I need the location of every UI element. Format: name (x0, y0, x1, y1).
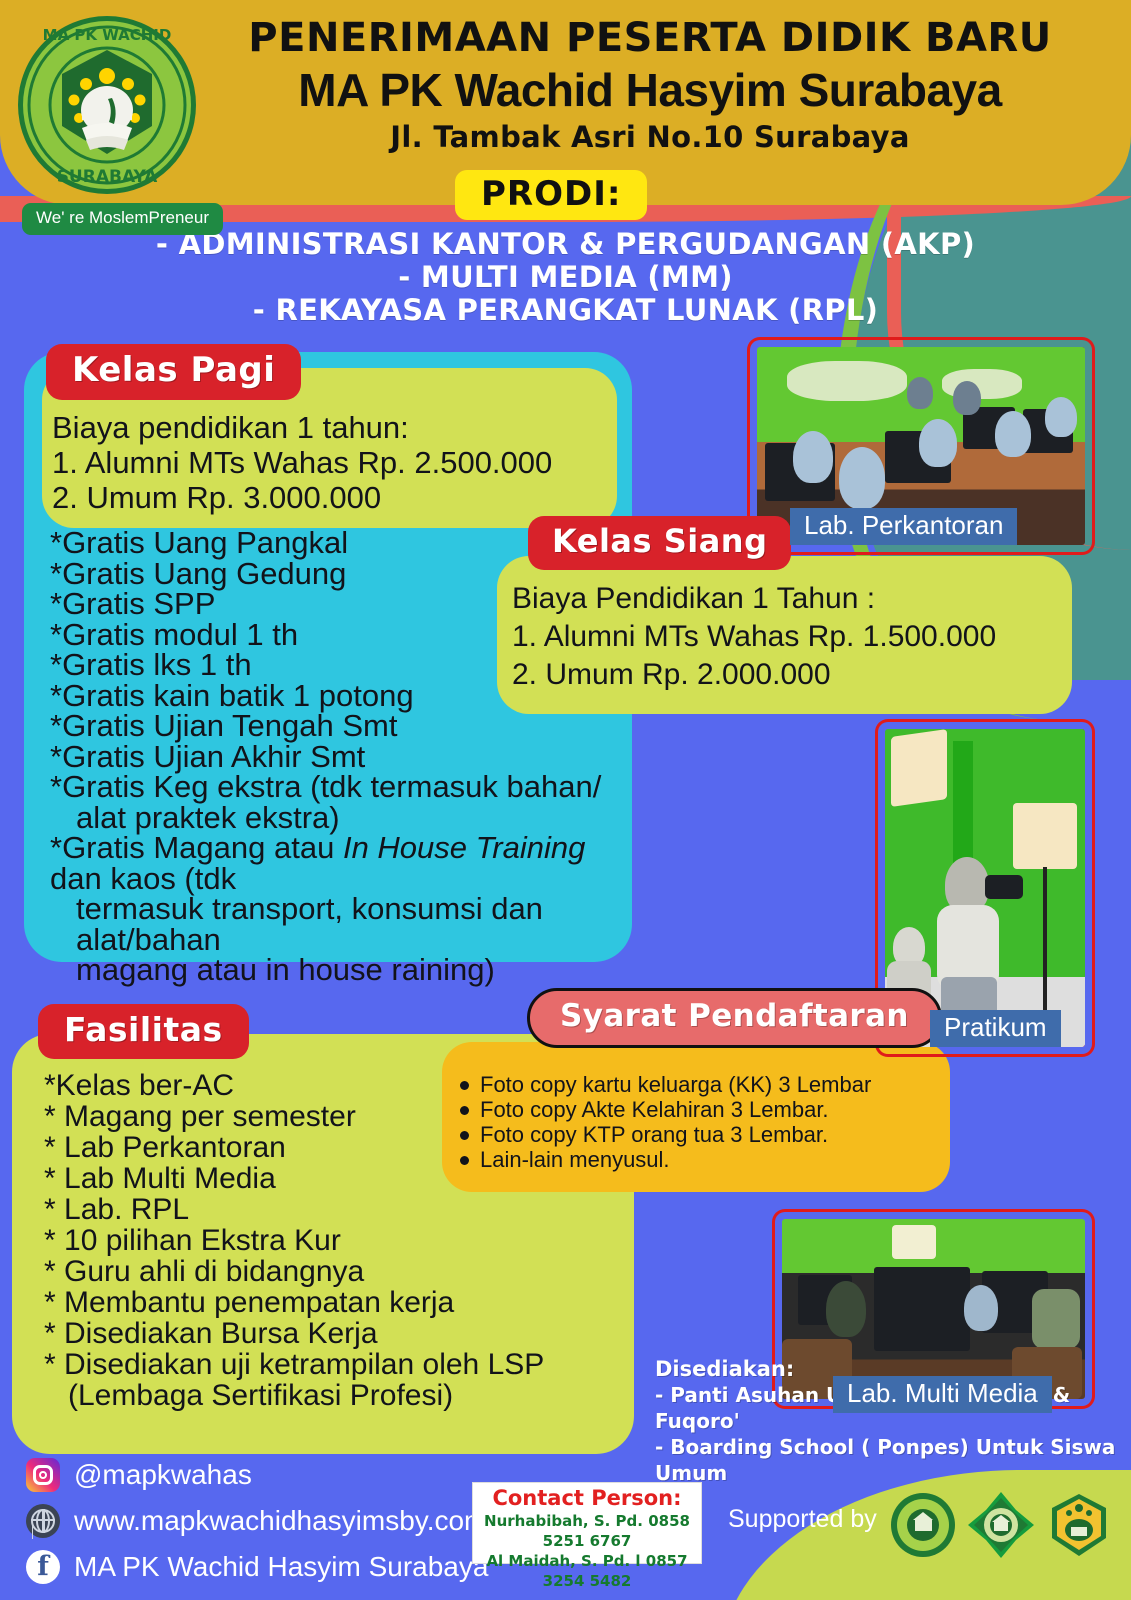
facebook-page: MA PK Wachid Hasyim Surabaya (74, 1544, 488, 1590)
syarat-item: Foto copy kartu keluarga (KK) 3 Lembar (452, 1072, 952, 1097)
globe-icon (26, 1504, 60, 1538)
photo-caption-lab-perkantoran: Lab. Perkantoran (790, 508, 1017, 545)
contact-line-1: Nurhabibah, S. Pd. 0858 5251 6767 (473, 1511, 701, 1551)
gratis-keg-line1: *Gratis Keg ekstra (tdk termasuk bahan/ (50, 772, 630, 803)
poster-root: MA PK WACHID SURABAYA PENERIMAAN PESERTA… (0, 0, 1131, 1600)
svg-text:SURABAYA: SURABAYA (57, 167, 158, 187)
instagram-icon (26, 1458, 60, 1492)
kelas-siang-cost-text: Biaya Pendidikan 1 Tahun : 1. Alumni MTs… (512, 580, 1072, 694)
prodi-item-rpl: - REKAYASA PERANGKAT LUNAK (RPL) (0, 294, 1131, 327)
kelas-pagi-cost-2: 2. Umum Rp. 3.000.000 (52, 480, 612, 515)
social-row-website[interactable]: www.mapkwachidhasyimsby.com (26, 1498, 488, 1544)
syarat-item: Lain-lain menyusul. (452, 1147, 952, 1172)
kelas-siang-cost-2: 2. Umum Rp. 2.000.000 (512, 656, 1072, 694)
prodi-label-badge: PRODI: (455, 170, 647, 220)
supporter-logo-panti-asuhan-icon (890, 1492, 956, 1558)
kelas-siang-badge: Kelas Siang (528, 516, 791, 570)
fasilitas-item-sub: (Lembaga Sertifikasi Profesi) (44, 1380, 644, 1411)
social-footer: @mapkwahas www.mapkwachidhasyimsby.com f… (26, 1452, 488, 1590)
moslempreneur-badge: We' re MoslemPreneur (22, 203, 223, 235)
gratis-item: *Gratis Ujian Tengah Smt (50, 711, 630, 742)
website-url: www.mapkwachidhasyimsby.com (74, 1498, 487, 1544)
gratis-keg-line2: alat praktek ekstra) (50, 803, 630, 834)
prodi-list: - ADMINISTRASI KANTOR & PERGUDANGAN (AKP… (0, 228, 1131, 327)
kelas-siang-cost-1: 1. Alumni MTs Wahas Rp. 1.500.000 (512, 618, 1072, 656)
syarat-pendaftaran-badge: Syarat Pendaftaran (527, 988, 942, 1048)
contact-title: Contact Person: (473, 1486, 701, 1511)
school-logo-icon: MA PK WACHID SURABAYA (16, 14, 198, 196)
header-text-block: PENERIMAAN PESERTA DIDIK BARU MA PK Wach… (190, 14, 1110, 156)
disediakan-item: - Boarding School ( Ponpes) Untuk Siswa … (655, 1434, 1125, 1486)
kelas-pagi-cost-text: Biaya pendidikan 1 tahun: 1. Alumni MTs … (52, 410, 612, 515)
header-school-name: MA PK Wachid Hasyim Surabaya (190, 62, 1110, 118)
header-title-line1: PENERIMAAN PESERTA DIDIK BARU (190, 14, 1110, 62)
fasilitas-item: * Lab. RPL (44, 1194, 644, 1225)
social-row-facebook[interactable]: f MA PK Wachid Hasyim Surabaya (26, 1544, 488, 1590)
photo-caption-lab-multimedia: Lab. Multi Media (833, 1376, 1052, 1413)
fasilitas-item: * Guru ahli di bidangnya (44, 1256, 644, 1287)
header-address: Jl. Tambak Asri No.10 Surabaya (190, 118, 1110, 156)
photo-caption-pratikum: Pratikum (930, 1010, 1061, 1047)
fasilitas-item: * 10 pilihan Ekstra Kur (44, 1225, 644, 1256)
supporter-logo-yayasan-icon (966, 1490, 1036, 1560)
kelas-siang-cost-title: Biaya Pendidikan 1 Tahun : (512, 580, 1072, 618)
fasilitas-item: * Disediakan Bursa Kerja (44, 1318, 644, 1349)
contact-person-card: Contact Person: Nurhabibah, S. Pd. 0858 … (472, 1482, 702, 1564)
syarat-list: Foto copy kartu keluarga (KK) 3 Lembar F… (452, 1072, 952, 1172)
gratis-magang-line1: *Gratis Magang atau In House Training da… (50, 833, 630, 894)
contact-line-2: Al Maidah, S. Pd. l 0857 3254 5482 (473, 1551, 701, 1591)
supported-by-label: Supported by (728, 1505, 877, 1534)
syarat-item: Foto copy KTP orang tua 3 Lembar. (452, 1122, 952, 1147)
prodi-item-mm: - MULTI MEDIA (MM) (0, 261, 1131, 294)
supporter-logo-mts-wachid-hasyim-icon (1046, 1492, 1112, 1558)
kelas-pagi-badge: Kelas Pagi (46, 344, 301, 400)
fasilitas-item: * Membantu penempatan kerja (44, 1287, 644, 1318)
facebook-icon: f (26, 1550, 60, 1584)
syarat-item: Foto copy Akte Kelahiran 3 Lembar. (452, 1097, 952, 1122)
fasilitas-item: * Disediakan uji ketrampilan oleh LSP (44, 1349, 644, 1380)
kelas-pagi-cost-title: Biaya pendidikan 1 tahun: (52, 410, 612, 445)
gratis-magang-line3: magang atau in house raining) (50, 955, 630, 986)
supported-logos (890, 1490, 1112, 1560)
gratis-magang-line2: termasuk transport, konsumsi dan alat/ba… (50, 894, 630, 955)
social-row-instagram[interactable]: @mapkwahas (26, 1452, 488, 1498)
fasilitas-badge: Fasilitas (38, 1004, 249, 1059)
instagram-handle: @mapkwahas (74, 1452, 252, 1498)
gratis-item: *Gratis Ujian Akhir Smt (50, 742, 630, 773)
svg-text:MA PK WACHID: MA PK WACHID (43, 26, 172, 44)
kelas-pagi-cost-1: 1. Alumni MTs Wahas Rp. 2.500.000 (52, 445, 612, 480)
in-house-training-italic: In House Training (343, 830, 585, 865)
